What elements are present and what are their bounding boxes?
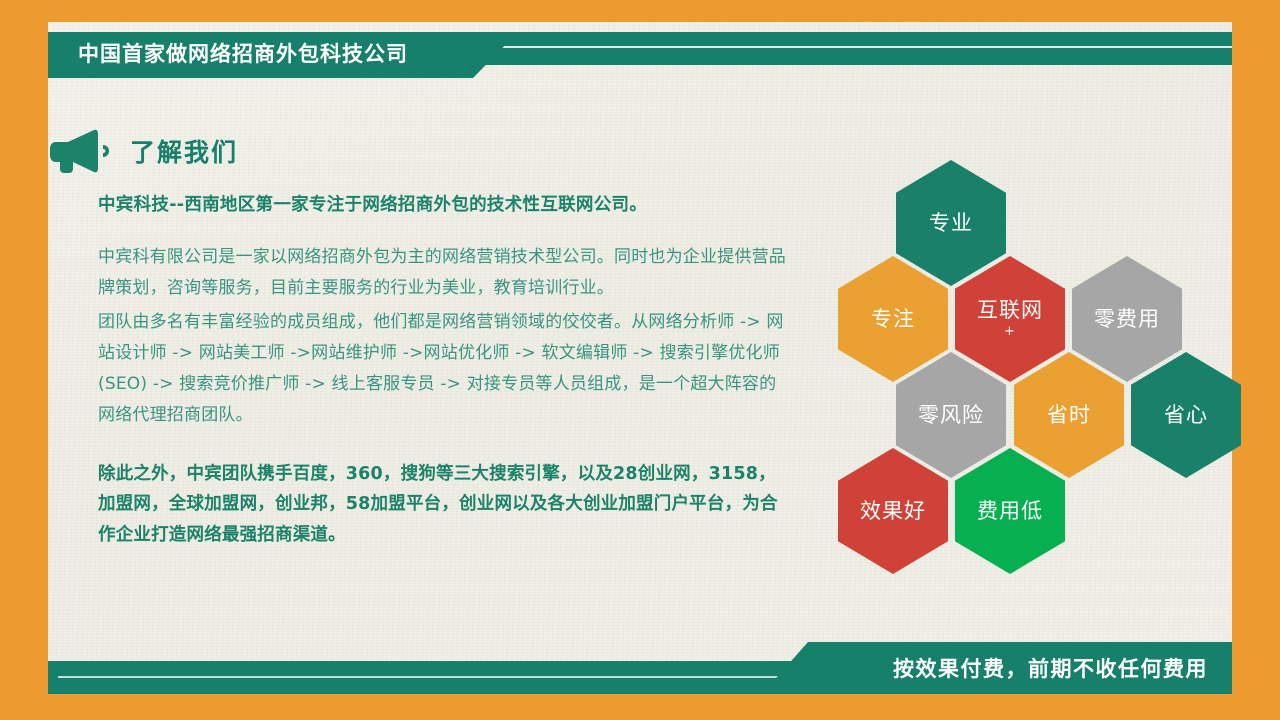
hexagon-tile: 专注 [838,256,948,382]
hexagon-label: 省心 [1164,403,1208,427]
megaphone-icon [48,128,110,174]
hexagon-tile: 专业 [896,160,1006,286]
hexagon-cluster: 专业专注互联网+零费用零风险省时省心效果好费用低 [838,160,1238,540]
footer-band: 按效果付费，前期不收任何费用 [48,642,1232,694]
footer-text-block: 按效果付费，前期不收任何费用 [762,642,1232,694]
header-band: 中国首家做网络招商外包科技公司 [48,32,1232,78]
section-title: 了解我们 [130,133,238,169]
body-copy: 中宾科技--西南地区第一家专注于网络招商外包的技术性互联网公司。 中宾科有限公司… [98,192,788,551]
hexagon-tile: 零风险 [896,352,1006,478]
hexagon-label: 专业 [929,211,973,235]
page-title: 中国首家做网络招商外包科技公司 [48,38,408,72]
hexagon-label: 专注 [871,307,915,331]
closing-paragraph: 除此之外，中宾团队携手百度，360，搜狗等三大搜索引擎，以及28创业网，3158… [98,459,788,551]
hexagon-tile: 互联网+ [955,256,1065,382]
paragraph-1: 中宾科有限公司是一家以网络招商外包为主的网络营销技术型公司。同时也为企业提供营品… [98,242,788,304]
hexagon-tile: 省时 [1014,352,1124,478]
hexagon-label: 费用低 [977,499,1043,523]
hexagon-tile: 省心 [1131,352,1241,478]
hexagon-tile: 零费用 [1072,256,1182,382]
hexagon-label: 省时 [1047,403,1091,427]
paragraph-2: 团队由多名有丰富经验的成员组成，他们都是网络营销领域的佼佼者。从网络分析师 ->… [98,307,788,431]
footer-tagline: 按效果付费，前期不收任何费用 [893,653,1232,683]
header-title-block: 中国首家做网络招商外包科技公司 [48,32,518,78]
hexagon-label: 零风险 [918,403,984,427]
lead-paragraph: 中宾科技--西南地区第一家专注于网络招商外包的技术性互联网公司。 [98,192,788,219]
hexagon-label: 互联网 [977,298,1043,322]
hexagon-label: 零费用 [1094,307,1160,331]
hexagon-sublabel: + [1004,325,1016,340]
section-heading: 了解我们 [48,128,238,174]
hexagon-label: 效果好 [860,499,926,523]
slide-root: 中国首家做网络招商外包科技公司 了解我们 中宾科技--西南地区第一家专注于网络招… [0,0,1280,720]
